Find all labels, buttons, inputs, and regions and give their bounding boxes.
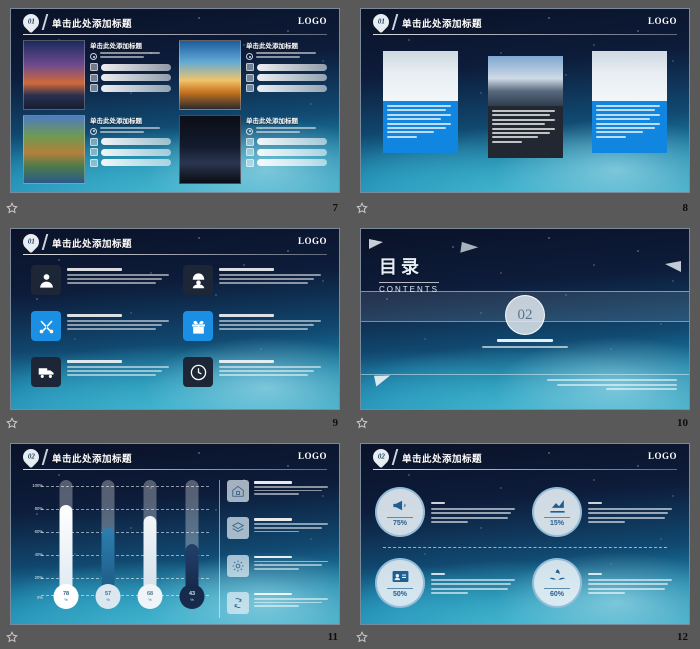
content-card[interactable] — [383, 51, 458, 153]
badge-pin-icon: 01 — [23, 14, 40, 31]
bullet-dot-icon — [90, 53, 97, 60]
progress-row[interactable] — [246, 159, 327, 167]
feature-item[interactable] — [31, 357, 173, 399]
slide-10[interactable]: 目录 CONTENTS 02 — [360, 228, 690, 410]
star-outline-icon[interactable] — [6, 417, 18, 429]
header-rule — [23, 34, 327, 35]
scissors-tools-icon — [31, 311, 61, 341]
slide-7[interactable]: 01 单击此处添加标题 LOGO 单击此处添加标题 — [10, 8, 340, 193]
bullet-dot-icon — [90, 128, 97, 135]
progress-row[interactable] — [90, 159, 171, 167]
progress-bar — [257, 138, 327, 145]
content-card[interactable] — [592, 51, 667, 153]
page-number: 11 — [328, 631, 344, 643]
section-caption — [450, 339, 600, 348]
list-square-icon — [90, 138, 98, 146]
slide-8[interactable]: 01 单击此处添加标题 LOGO — [360, 8, 690, 193]
slide-title: 单击此处添加标题 — [52, 16, 132, 30]
thumb-footer: 10 — [350, 415, 700, 431]
header-slash-divider — [392, 14, 398, 30]
page-number: 7 — [333, 202, 345, 214]
slide-9[interactable]: 01 单击此处添加标题 LOGO — [10, 228, 340, 410]
snow-road-photo — [592, 51, 667, 101]
progress-bar — [101, 138, 171, 145]
circle-stat-grid: 75% 15% 50% — [371, 476, 679, 618]
stat-block[interactable]: 15% — [528, 476, 679, 547]
slide-thumbnail-grid: 01 单击此处添加标题 LOGO 单击此处添加标题 — [0, 0, 700, 649]
star-outline-icon[interactable] — [356, 417, 368, 429]
progress-row[interactable] — [90, 74, 171, 82]
logo-text: LOGO — [298, 451, 327, 461]
progress-row[interactable] — [246, 138, 327, 146]
progress-bar — [101, 74, 171, 81]
list-square-icon — [246, 148, 254, 156]
stat-percent: 75% — [393, 520, 407, 527]
hand-plant-icon — [548, 567, 567, 586]
progress-bar — [257, 74, 327, 81]
slide-cell-10: 目录 CONTENTS 02 10 — [350, 220, 700, 435]
sunset-climbers-photo — [179, 40, 241, 110]
feature-item[interactable] — [183, 311, 325, 353]
badge-number: 01 — [28, 18, 35, 26]
clock-24h-icon — [183, 357, 213, 387]
thumb-footer: 11 — [0, 629, 350, 645]
header-slash-divider — [42, 449, 48, 465]
badge-number: 02 — [28, 453, 35, 461]
contents-title-cn: 目录 — [379, 253, 439, 279]
block-description — [100, 127, 171, 135]
y-tick-label: 0% — [37, 596, 43, 601]
card-text — [592, 101, 667, 153]
slide-header: 02 单击此处添加标题 LOGO — [11, 444, 339, 470]
aurora-landscape-photo — [23, 40, 85, 110]
recycle-arrows-icon — [227, 592, 249, 614]
paper-plane-icon — [369, 239, 383, 249]
stat-ring[interactable]: 75% — [375, 487, 425, 537]
logo-text: LOGO — [648, 16, 677, 26]
contents-note — [547, 379, 677, 393]
thermometer-unit: % — [190, 597, 194, 602]
slide-cell-8: 01 单击此处添加标题 LOGO — [350, 0, 700, 220]
feature-item[interactable] — [31, 311, 173, 353]
badge-pin-icon: 01 — [23, 234, 40, 251]
slide-cell-11: 02 单击此处添加标题 LOGO 100% 80% 60% 40% 20% 0% — [0, 435, 350, 649]
thumb-footer: 8 — [350, 200, 700, 216]
badge-pin-icon: 01 — [373, 14, 390, 31]
thermometer[interactable]: 43% — [179, 480, 205, 620]
dashed-divider — [383, 547, 667, 548]
photo-text-block[interactable]: 单击此处添加标题 — [23, 40, 171, 110]
megaphone-icon — [391, 496, 410, 515]
stat-block[interactable]: 50% — [371, 547, 522, 618]
id-card-icon — [391, 567, 410, 586]
section-number-circle[interactable]: 02 — [505, 295, 545, 335]
progress-bar — [257, 149, 327, 156]
header-slash-divider — [42, 14, 48, 30]
slide-cell-12: 02 单击此处添加标题 LOGO 75% — [350, 435, 700, 649]
list-square-icon — [246, 138, 254, 146]
list-square-icon — [246, 74, 254, 82]
page-number: 10 — [677, 417, 694, 429]
slide-cell-7: 01 单击此处添加标题 LOGO 单击此处添加标题 — [0, 0, 350, 220]
contents-heading: 目录 CONTENTS — [379, 253, 439, 294]
header-rule — [373, 34, 677, 35]
block-description — [256, 127, 327, 135]
paper-plane-icon — [460, 242, 478, 255]
stat-block[interactable]: 60% — [528, 547, 679, 618]
progress-bar — [101, 149, 171, 156]
card-row — [383, 51, 667, 170]
stat-percent: 60% — [550, 591, 564, 598]
paper-plane-icon — [665, 261, 681, 272]
layers-stack-icon — [227, 517, 249, 539]
progress-row[interactable] — [90, 63, 171, 71]
logo-text: LOGO — [298, 236, 327, 246]
logo-text: LOGO — [298, 16, 327, 26]
stat-ring[interactable]: 15% — [532, 487, 582, 537]
list-square-icon — [90, 159, 98, 167]
card-text — [383, 101, 458, 153]
legend-list — [227, 480, 329, 614]
thermometer-unit: % — [64, 597, 68, 602]
gift-box-icon — [183, 311, 213, 341]
thumb-footer: 9 — [0, 415, 350, 431]
y-axis-labels: 100% 80% 60% 40% 20% 0% — [25, 484, 43, 602]
page-number: 12 — [677, 631, 694, 643]
feature-item[interactable] — [31, 265, 173, 307]
photo-text-block[interactable]: 单击此处添加标题 — [179, 115, 327, 185]
progress-bar — [101, 64, 171, 71]
thumb-footer: 12 — [350, 629, 700, 645]
feature-item[interactable] — [183, 357, 325, 399]
card-text — [488, 106, 563, 158]
star-outline-icon[interactable] — [356, 631, 368, 643]
progress-row[interactable] — [90, 148, 171, 156]
user-person-icon — [31, 265, 61, 295]
progress-row[interactable] — [90, 84, 171, 92]
progress-row[interactable] — [246, 84, 327, 92]
list-square-icon — [246, 159, 254, 167]
badge-pin-icon: 02 — [373, 449, 390, 466]
slide-header: 01 单击此处添加标题 LOGO — [361, 9, 689, 35]
progress-row[interactable] — [90, 138, 171, 146]
stat-block[interactable]: 75% — [371, 476, 522, 547]
block-description — [256, 52, 327, 60]
stat-ring[interactable]: 50% — [375, 558, 425, 608]
list-square-icon — [246, 63, 254, 71]
thermometer-chart: 100% 80% 60% 40% 20% 0% 78% — [11, 474, 339, 618]
slide-cell-9: 01 单击此处添加标题 LOGO — [0, 220, 350, 435]
badge-pin-icon: 02 — [23, 449, 40, 466]
slide-header: 01 单击此处添加标题 LOGO — [11, 229, 339, 255]
progress-row[interactable] — [246, 74, 327, 82]
badge-number: 02 — [378, 453, 385, 461]
badge-number: 01 — [378, 18, 385, 26]
progress-row[interactable] — [246, 63, 327, 71]
legend-item[interactable] — [227, 517, 329, 539]
block-title: 单击此处添加标题 — [246, 40, 327, 50]
progress-row[interactable] — [246, 148, 327, 156]
thermometer-group: 78% 57% 68% 43% — [45, 480, 213, 620]
block-title: 单击此处添加标题 — [246, 115, 327, 125]
feature-item[interactable] — [183, 265, 325, 307]
header-slash-divider — [392, 449, 398, 465]
block-description — [100, 52, 171, 60]
page-number: 8 — [683, 202, 695, 214]
star-outline-icon[interactable] — [356, 202, 368, 214]
star-outline-icon[interactable] — [6, 202, 18, 214]
list-square-icon — [90, 84, 98, 92]
thermometer[interactable]: 57% — [95, 480, 121, 620]
list-square-icon — [90, 63, 98, 71]
bullet-dot-icon — [246, 128, 253, 135]
block-title: 单击此处添加标题 — [90, 40, 171, 50]
night-city-road-photo — [179, 115, 241, 185]
header-slash-divider — [42, 234, 48, 250]
section-subtitle — [482, 346, 568, 348]
slide-header: 02 单击此处添加标题 LOGO — [361, 444, 689, 470]
section-number: 02 — [518, 307, 533, 324]
section-title — [497, 339, 553, 342]
thermometer[interactable]: 78% — [53, 480, 79, 620]
content-blocks: 单击此处添加标题 — [23, 40, 327, 184]
stat-ring[interactable]: 60% — [532, 558, 582, 608]
block-title: 单击此处添加标题 — [90, 115, 171, 125]
helmet-worker-icon — [183, 265, 213, 295]
list-square-icon — [90, 74, 98, 82]
progress-bar — [257, 64, 327, 71]
page-number: 9 — [333, 417, 345, 429]
stat-percent: 50% — [393, 591, 407, 598]
thumb-footer: 7 — [0, 200, 350, 216]
icon-feature-list — [31, 265, 325, 399]
progress-bar — [257, 159, 327, 166]
gear-settings-icon — [227, 555, 249, 577]
progress-bar — [257, 85, 327, 92]
divider-line — [361, 374, 689, 375]
slide-title: 单击此处添加标题 — [52, 451, 132, 465]
header-rule — [23, 469, 327, 470]
vertical-divider — [219, 480, 220, 618]
bullet-dot-icon — [246, 53, 253, 60]
delivery-truck-icon — [31, 357, 61, 387]
legend-item[interactable] — [227, 555, 329, 577]
list-square-icon — [246, 84, 254, 92]
photo-text-block[interactable]: 单击此处添加标题 — [179, 40, 327, 110]
legend-item[interactable] — [227, 480, 329, 502]
divider-line — [361, 291, 689, 292]
stat-percent: 15% — [550, 520, 564, 527]
star-outline-icon[interactable] — [6, 631, 18, 643]
snow-forest-photo — [383, 51, 458, 101]
progress-bar — [101, 159, 171, 166]
slide-11[interactable]: 02 单击此处添加标题 LOGO 100% 80% 60% 40% 20% 0% — [10, 443, 340, 625]
list-square-icon — [90, 148, 98, 156]
bridge-autumn-photo — [23, 115, 85, 185]
progress-bar — [101, 85, 171, 92]
slide-header: 01 单击此处添加标题 LOGO — [11, 9, 339, 35]
house-home-icon — [227, 480, 249, 502]
thermometer-unit: % — [106, 597, 110, 602]
thermometer[interactable]: 68% — [137, 480, 163, 620]
slide-title: 单击此处添加标题 — [52, 236, 132, 250]
city-skyline-photo — [488, 56, 563, 106]
badge-number: 01 — [28, 238, 35, 246]
header-rule — [23, 254, 327, 255]
slide-title: 单击此处添加标题 — [402, 16, 482, 30]
growth-chart-icon — [548, 496, 567, 515]
slide-title: 单击此处添加标题 — [402, 451, 482, 465]
thermometer-unit: % — [148, 597, 152, 602]
slide-12[interactable]: 02 单击此处添加标题 LOGO 75% — [360, 443, 690, 625]
logo-text: LOGO — [648, 451, 677, 461]
legend-item[interactable] — [227, 592, 329, 614]
header-rule — [373, 469, 677, 470]
photo-text-block[interactable]: 单击此处添加标题 — [23, 115, 171, 185]
contents-underline — [379, 282, 439, 283]
content-card[interactable] — [488, 56, 563, 158]
